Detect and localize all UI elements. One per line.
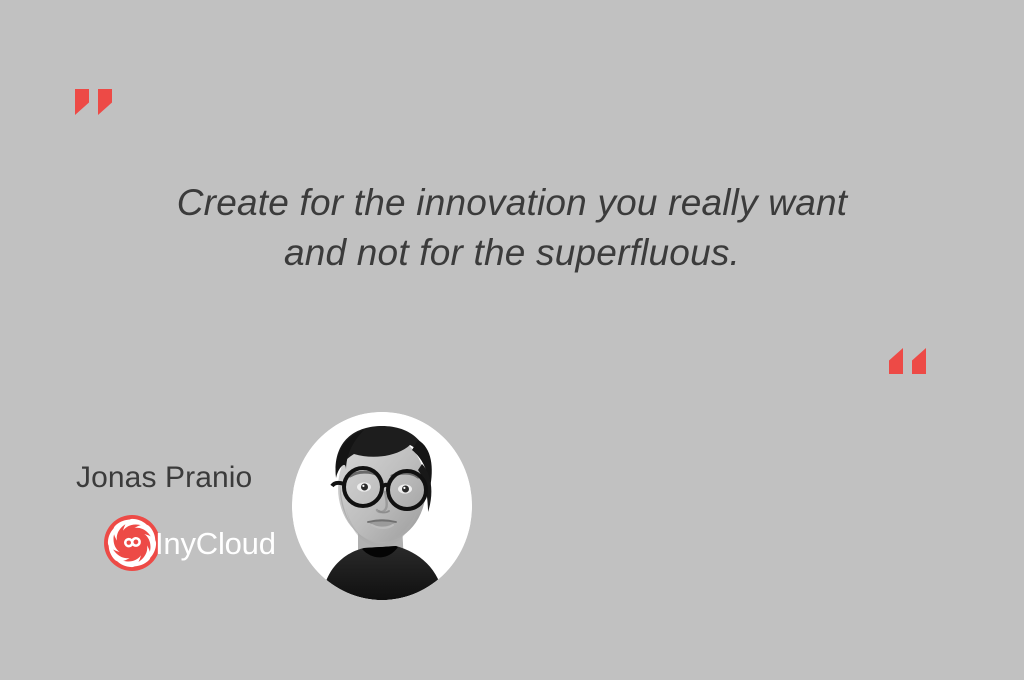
author-name: Jonas Pranio (76, 460, 286, 496)
quote-tick (889, 348, 903, 374)
quote-tick (912, 348, 926, 374)
author-column: Jonas Pranio (76, 412, 286, 571)
swirl-infinity-icon (104, 515, 160, 571)
quote-tick (75, 89, 89, 115)
brand-name: InyCloud (155, 528, 276, 559)
quote-text: Create for the innovation you really wan… (0, 178, 1024, 278)
quote-mark-bottom-right-icon (889, 348, 926, 374)
avatar (292, 412, 472, 600)
brand-logo: InyCloud (104, 515, 286, 571)
attribution: Jonas Pranio (0, 412, 1024, 612)
quote-tick (98, 89, 112, 115)
quote-card: Create for the innovation you really wan… (0, 0, 1024, 680)
quote-mark-top-left-icon (75, 89, 112, 115)
